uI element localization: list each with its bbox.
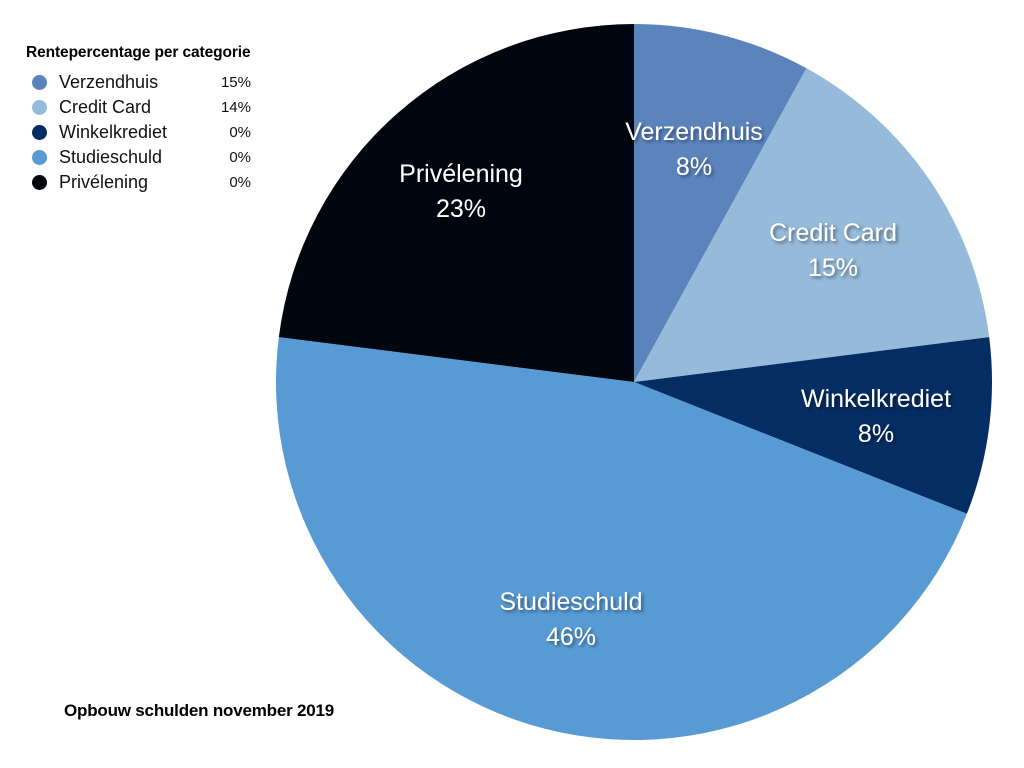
pie-slice-value: 23%	[436, 195, 486, 223]
legend-color-swatch	[32, 175, 47, 190]
legend-item-value: 0%	[209, 174, 251, 191]
legend-item: Studieschuld0%	[26, 145, 316, 170]
legend-item-value: 0%	[209, 124, 251, 141]
pie-slice-value: 15%	[808, 254, 858, 282]
legend-rows: Verzendhuis15%Credit Card14%Winkelkredie…	[26, 70, 316, 195]
legend: Rentepercentage per categorie Verzendhui…	[26, 44, 316, 195]
pie-slice-name: Verzendhuis	[625, 118, 763, 146]
legend-item: Credit Card14%	[26, 95, 316, 120]
pie-slice-name: Credit Card	[769, 219, 897, 247]
legend-item-label: Verzendhuis	[59, 72, 209, 93]
pie-slice-value: 8%	[858, 420, 894, 448]
legend-item-value: 0%	[209, 149, 251, 166]
legend-item-value: 15%	[209, 74, 251, 91]
pie-slice-value: 8%	[676, 153, 712, 181]
pie-slice-name: Winkelkrediet	[801, 385, 951, 413]
legend-color-swatch	[32, 125, 47, 140]
legend-item-label: Winkelkrediet	[59, 122, 209, 143]
legend-item-label: Studieschuld	[59, 147, 209, 168]
pie-slice-value: 46%	[546, 623, 596, 651]
pie-slice-name: Studieschuld	[499, 588, 642, 616]
legend-item: Privélening0%	[26, 170, 316, 195]
pie-chart-page: Verzendhuis8%Credit Card15%Winkelkrediet…	[0, 0, 1024, 768]
chart-title: Opbouw schulden november 2019	[64, 701, 334, 721]
legend-color-swatch	[32, 100, 47, 115]
legend-color-swatch	[32, 75, 47, 90]
legend-item-value: 14%	[209, 99, 251, 116]
legend-item-label: Privélening	[59, 172, 209, 193]
pie-slice-name: Privélening	[399, 160, 523, 188]
legend-item: Winkelkrediet0%	[26, 120, 316, 145]
legend-title: Rentepercentage per categorie	[26, 44, 316, 62]
legend-item: Verzendhuis15%	[26, 70, 316, 95]
legend-color-swatch	[32, 150, 47, 165]
legend-item-label: Credit Card	[59, 97, 209, 118]
